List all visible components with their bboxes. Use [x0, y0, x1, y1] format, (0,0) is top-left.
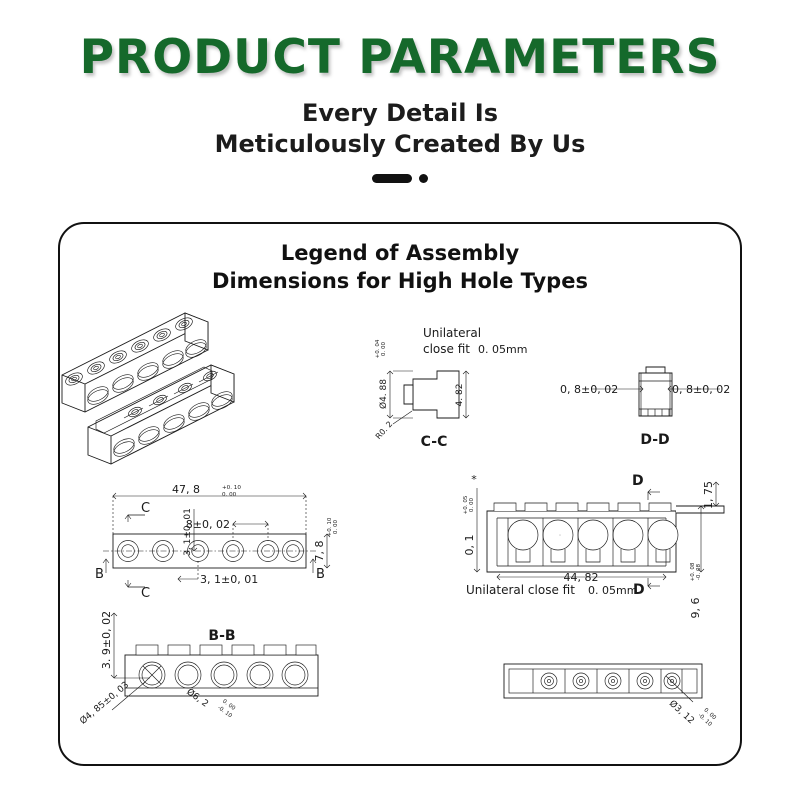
- page-header: PRODUCT PARAMETERS Every Detail Is Metic…: [0, 0, 800, 183]
- page-title: PRODUCT PARAMETERS: [0, 0, 800, 85]
- product-parameters-page: PRODUCT PARAMETERS Every Detail Is Metic…: [0, 0, 800, 800]
- page-subtitle: Every Detail Is Meticulously Created By …: [0, 85, 800, 160]
- subtitle-line-1: Every Detail Is: [0, 98, 800, 129]
- dash-icon: [372, 174, 412, 183]
- panel-title-line-1: Legend of Assembly: [60, 240, 740, 268]
- dot-icon: [419, 174, 428, 183]
- header-decoration: [0, 174, 800, 183]
- panel-title-line-2: Dimensions for High Hole Types: [60, 268, 740, 296]
- panel-title: Legend of Assembly Dimensions for High H…: [60, 240, 740, 295]
- diagram-panel: Legend of Assembly Dimensions for High H…: [58, 222, 742, 766]
- subtitle-line-2: Meticulously Created By Us: [0, 129, 800, 160]
